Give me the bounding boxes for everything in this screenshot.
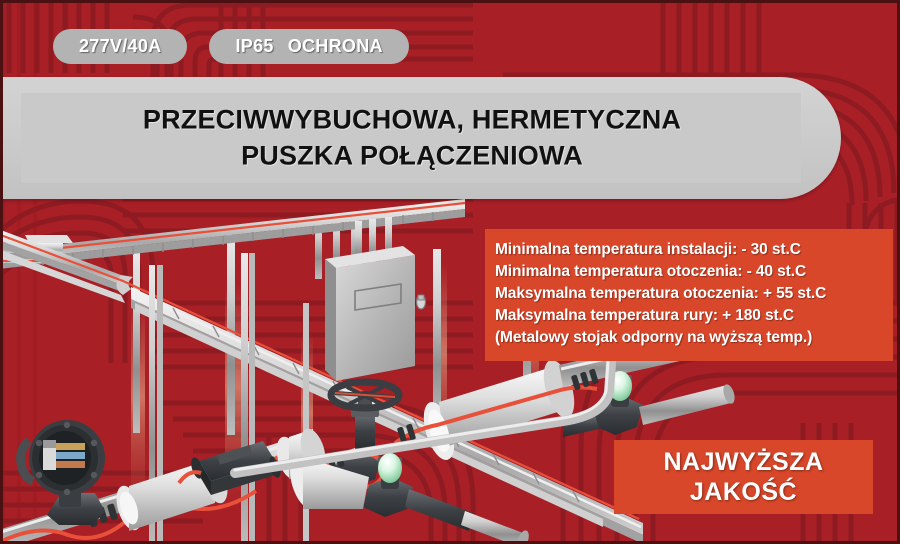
quality-line-1: NAJWYŻSZA <box>663 447 823 477</box>
ip-protection-label: OCHRONA <box>288 36 383 57</box>
ip-rating-badge[interactable]: IP65 OCHRONA <box>209 29 408 64</box>
spec-line-2: Minimalna temperatura otoczenia: - 40 st… <box>495 261 883 283</box>
spec-line-5: (Metalowy stojak odporny na wyższą temp.… <box>495 327 883 349</box>
quality-badge: NAJWYŻSZA JAKOŚĆ <box>614 440 873 514</box>
title-line-2: PUSZKA POŁĄCZENIOWA <box>0 138 841 174</box>
voltage-current-badge[interactable]: 277V/40A <box>53 29 187 64</box>
title-line-1: PRZECIWWYBUCHOWA, HERMETYCZNA <box>0 102 841 138</box>
page-title: PRZECIWWYBUCHOWA, HERMETYCZNA PUSZKA POŁ… <box>0 102 841 173</box>
poster-root: 277V/40A IP65 OCHRONA PRZECIWWYBUCHOWA, … <box>0 0 900 544</box>
badge-row: 277V/40A IP65 OCHRONA <box>53 29 409 64</box>
spec-line-4: Maksymalna temperatura rury: + 180 st.C <box>495 305 883 327</box>
voltage-current-label: 277V/40A <box>79 36 161 57</box>
header-title-wrap: PRZECIWWYBUCHOWA, HERMETYCZNA PUSZKA POŁ… <box>0 77 841 199</box>
quality-line-2: JAKOŚĆ <box>690 477 797 507</box>
spec-line-1: Minimalna temperatura instalacji: - 30 s… <box>495 239 883 261</box>
spec-line-3: Maksymalna temperatura otoczenia: + 55 s… <box>495 283 883 305</box>
ip-rating-label: IP65 <box>235 36 273 57</box>
temperature-spec-block: Minimalna temperatura instalacji: - 30 s… <box>485 229 893 361</box>
